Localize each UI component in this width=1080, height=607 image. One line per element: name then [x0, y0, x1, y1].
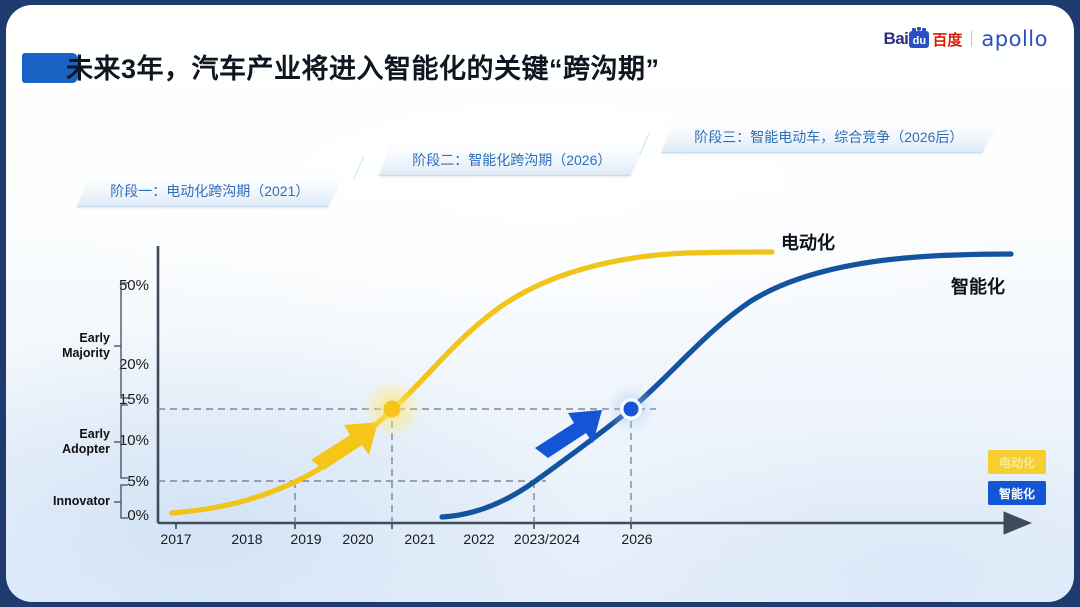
y-tick-50: 50%: [119, 277, 149, 294]
x-tick-2018: 2018: [231, 531, 262, 547]
x-tick-2022: 2022: [463, 531, 494, 547]
y-tick-10: 10%: [119, 432, 149, 449]
y-axis-labels: 50% 20% 15% 10% 5% 0%: [119, 277, 149, 524]
category-innovator: Innovator: [53, 494, 110, 508]
x-tick-2020: 2020: [342, 531, 373, 547]
category-early-adopter-line2: Adopter: [62, 442, 110, 456]
y-tick-20: 20%: [119, 356, 149, 373]
category-early-adopter-line1: Early: [79, 427, 110, 441]
slide-frame: 未来3年，汽车产业将进入智能化的关键“跨沟期” Bai du 百度 apollo…: [0, 0, 1080, 607]
x-tick-2026: 2026: [621, 531, 652, 547]
x-tick-2019: 2019: [290, 531, 321, 547]
category-early-majority-line1: Early: [79, 331, 110, 345]
chart-legend: 电动化 智能化: [988, 450, 1046, 512]
y-tick-5: 5%: [127, 473, 149, 490]
intelligent-accel-arrow: [535, 410, 602, 458]
legend-item-intelligent[interactable]: 智能化: [988, 481, 1046, 505]
legend-item-ev[interactable]: 电动化: [988, 450, 1046, 474]
x-tick-2023-2024: 2023/2024: [514, 531, 580, 547]
intelligent-crossing-marker: [605, 383, 657, 435]
x-axis-labels: 2017 2018 2019 2020 2021 2022 2023/2024 …: [160, 531, 652, 547]
adoption-curve-chart: 50% 20% 15% 10% 5% 0% Early Majority Ear…: [6, 5, 1074, 602]
category-early-majority-line2: Majority: [62, 346, 110, 360]
chart-axes: [158, 246, 1006, 523]
legend-item-intelligent-label: 智能化: [999, 485, 1035, 502]
legend-item-ev-label: 电动化: [999, 454, 1035, 471]
series-curve-ev: [172, 252, 772, 513]
series-label-intelligent: 智能化: [951, 276, 1005, 297]
series-label-ev: 电动化: [781, 232, 835, 253]
x-tick-2021: 2021: [404, 531, 435, 547]
ev-crossing-marker: [362, 379, 422, 439]
ev-accel-arrow: [311, 422, 378, 470]
y-tick-0: 0%: [127, 507, 149, 524]
x-tick-2017: 2017: [160, 531, 191, 547]
slide-page: 未来3年，汽车产业将进入智能化的关键“跨沟期” Bai du 百度 apollo…: [6, 5, 1074, 602]
adopter-category-labels: Early Majority Early Adopter Innovator: [53, 331, 110, 508]
